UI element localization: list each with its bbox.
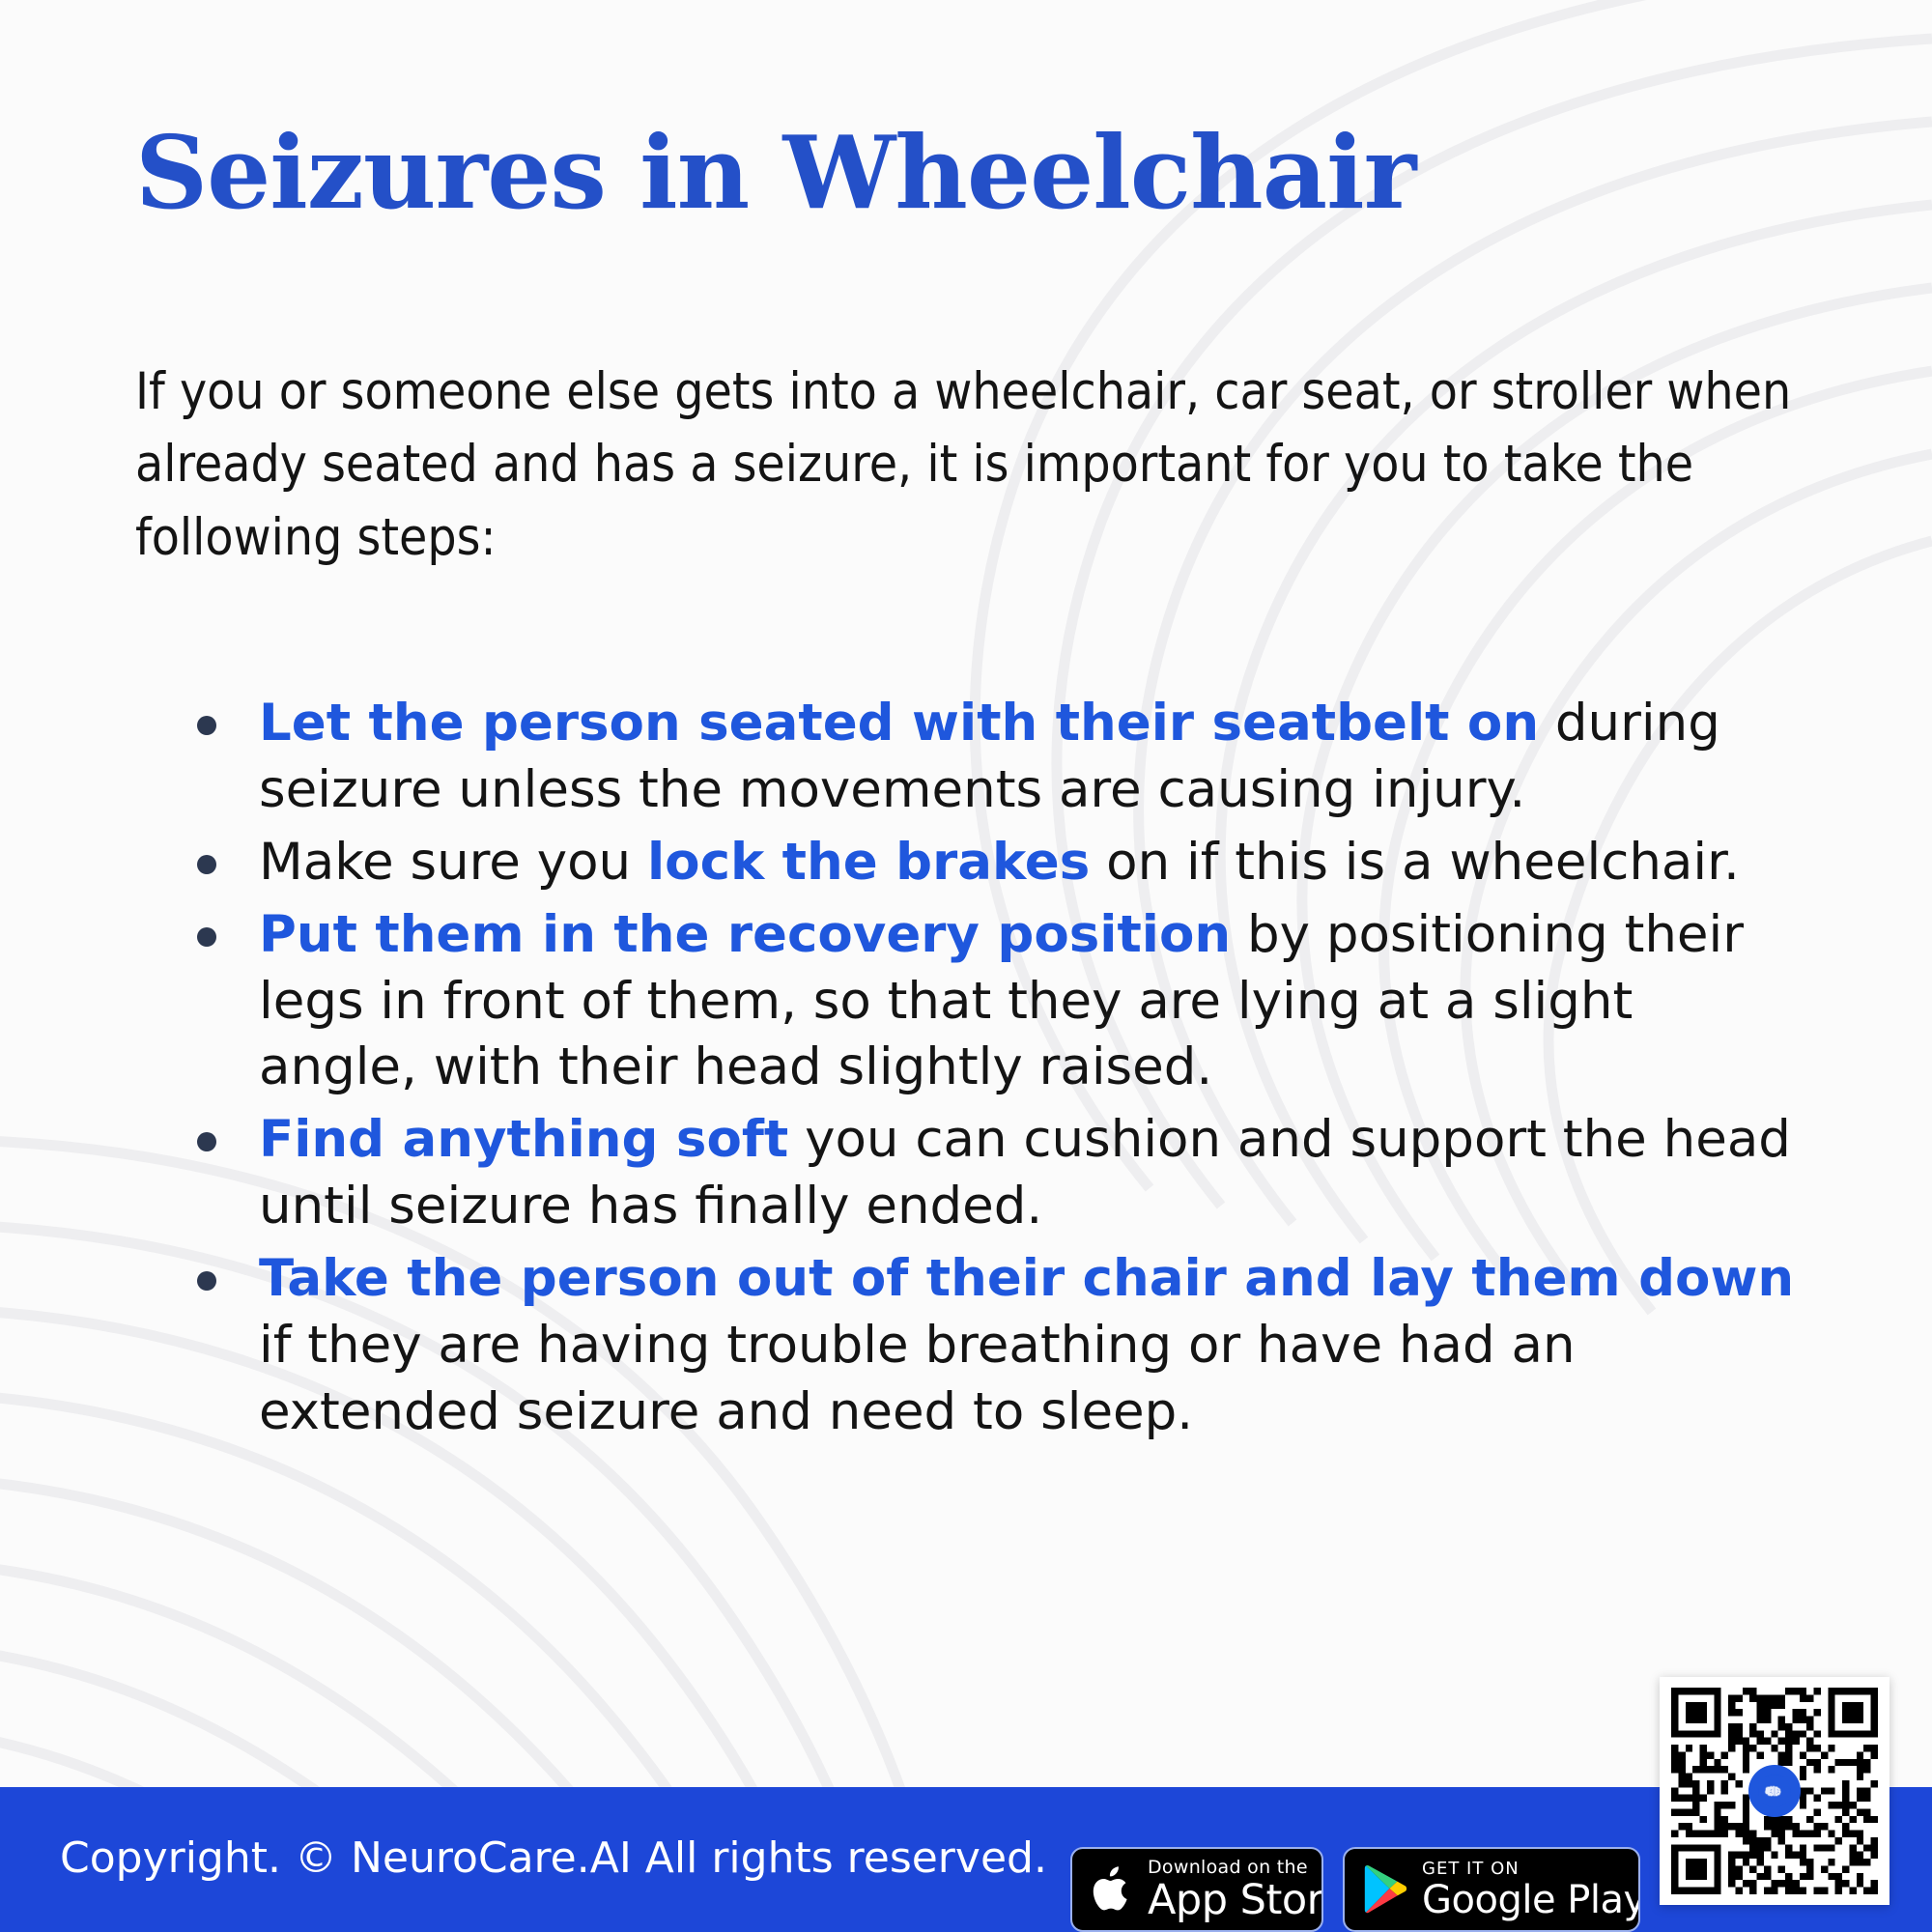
bullet-dot-icon (197, 1132, 216, 1151)
step-rest: if they are having trouble breathing or … (259, 1316, 1576, 1441)
list-item: Find anything soft you can cushion and s… (184, 1107, 1806, 1240)
google-play-badge[interactable]: GET IT ON Google Play (1343, 1847, 1640, 1932)
google-play-big-label: Google Play (1422, 1881, 1640, 1919)
step-highlight: lock the brakes (647, 833, 1090, 892)
bullet-dot-icon (197, 1271, 216, 1291)
app-store-badge-text: Download on the App Store (1148, 1859, 1323, 1921)
qr-code-card[interactable] (1660, 1677, 1889, 1905)
page-title-wrap: Seizures in Wheelchair (135, 120, 1415, 225)
list-item: Put them in the recovery position by pos… (184, 902, 1806, 1102)
google-play-icon (1360, 1861, 1410, 1918)
list-item: Make sure you lock the brakes on if this… (184, 830, 1806, 896)
step-highlight: Put them in the recovery position (259, 905, 1231, 964)
brain-logo-icon (1748, 1765, 1801, 1817)
app-store-badge[interactable]: Download on the App Store (1070, 1847, 1323, 1932)
intro-paragraph: If you or someone else gets into a wheel… (135, 355, 1797, 574)
bullet-dot-icon (197, 855, 216, 874)
app-store-small-label: Download on the (1148, 1859, 1323, 1877)
step-highlight: Let the person seated with their seatbel… (259, 694, 1539, 753)
infographic-page: Seizures in Wheelchair If you or someone… (0, 0, 1932, 1932)
list-item: Take the person out of their chair and l… (184, 1246, 1806, 1446)
bullet-dot-icon (197, 716, 216, 735)
list-item: Let the person seated with their seatbel… (184, 691, 1806, 824)
step-highlight: Find anything soft (259, 1110, 788, 1169)
qr-code (1671, 1688, 1878, 1894)
step-highlight: Take the person out of their chair and l… (259, 1249, 1794, 1308)
step-lead: Make sure you (259, 833, 647, 892)
app-store-big-label: App Store (1148, 1880, 1323, 1921)
step-rest: on if this is a wheelchair. (1090, 833, 1740, 892)
page-title: Seizures in Wheelchair (135, 120, 1415, 225)
copyright-text: Copyright. © NeuroCare.AI All rights res… (60, 1833, 1047, 1883)
google-play-badge-text: GET IT ON Google Play (1422, 1861, 1640, 1919)
steps-list: Let the person seated with their seatbel… (184, 691, 1806, 1452)
bullet-dot-icon (197, 927, 216, 947)
google-play-small-label: GET IT ON (1422, 1861, 1640, 1878)
apple-icon (1090, 1861, 1136, 1918)
footer-bar: Copyright. © NeuroCare.AI All rights res… (0, 1787, 1932, 1932)
